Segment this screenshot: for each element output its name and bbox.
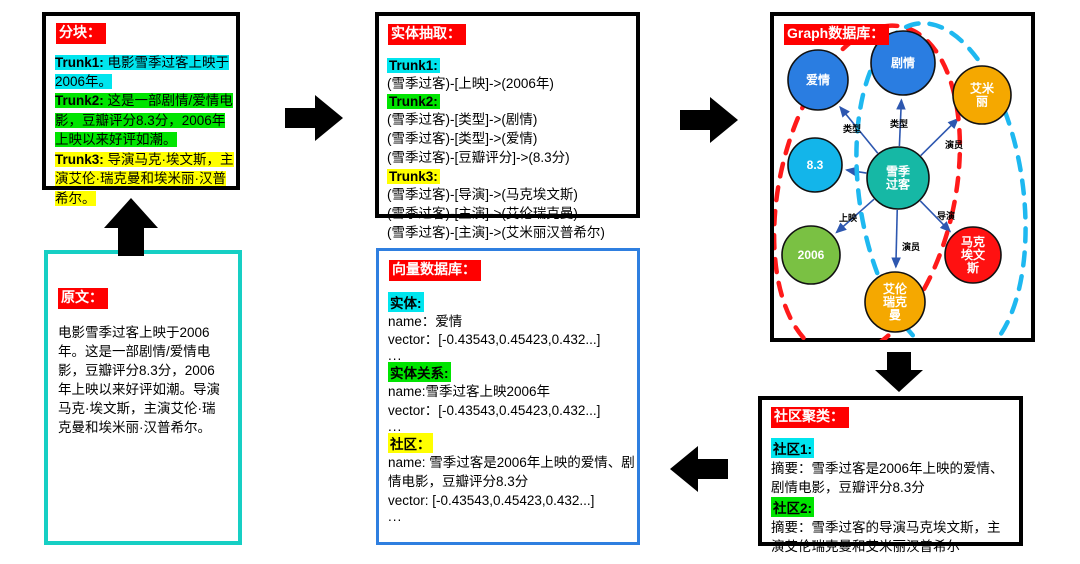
graph-edge (896, 210, 897, 267)
graph-node-label: 剧情 (891, 55, 915, 70)
chunk-label-2: Trunk2: (55, 93, 108, 108)
graph-db-panel: Graph数据库： 爱情剧情艾米丽8.3雪季过客2006马克埃文斯艾伦瑞克曼 类… (770, 12, 1035, 342)
community-summary: 摘要：雪季过客的导演马克埃文斯，主演艾伦瑞克曼和艾米丽汉普希尔 (771, 518, 1011, 556)
entity-triple: (雪季过客)-[上映]->(2006年) (387, 75, 636, 94)
arrow-comm-to-vec (668, 443, 730, 495)
graph-edge-label: 上映 (839, 212, 858, 223)
graph-edge-label: 类型 (843, 123, 861, 134)
graph-db-title: Graph数据库： (784, 24, 889, 45)
vector-section-tag-3: 社区： (388, 433, 433, 453)
vector-db-panel: 向量数据库： 实体: name：爱情 vector：[-0.43543,0.45… (376, 248, 640, 545)
entity-group-tag-2: Trunk2: (387, 94, 440, 109)
entity-group-tag-3: Trunk3: (387, 169, 440, 184)
graph-node-label: 雪季过客 (886, 164, 911, 192)
vector-db-title: 向量数据库： (389, 260, 481, 281)
chunk-list: Trunk1: 电影雪季过客上映于2006年。 Trunk2: 这是一部剧情/爱… (55, 53, 235, 209)
community-tag-2: 社区2: (771, 497, 814, 517)
graph-edge (921, 119, 958, 156)
arrow-chunk-to-ent (283, 92, 345, 144)
vector-line: name: 雪季过客是2006年上映的爱情、剧情电影，豆瓣评分8.3分 (388, 454, 637, 492)
community-summary: 摘要：雪季过客是2006年上映的爱情、剧情电影，豆瓣评分8.3分 (771, 459, 1011, 497)
graph-edge-label: 导演 (937, 210, 955, 221)
graph-node-label: 爱情 (806, 72, 830, 87)
source-text-title: 原文： (58, 288, 108, 309)
graph-node-label: 2006 (798, 248, 825, 262)
chunk-item-1: Trunk1: 电影雪季过客上映于2006年。 (55, 55, 229, 89)
community-list: 社区1: 摘要：雪季过客是2006年上映的爱情、剧情电影，豆瓣评分8.3分 社区… (771, 438, 1019, 557)
community-title: 社区聚类： (771, 407, 849, 428)
graph-edge-label: 演员 (945, 139, 963, 150)
entity-extraction-panel: 实体抽取： Trunk1: (雪季过客)-[上映]->(2006年) Trunk… (375, 12, 640, 218)
community-tag-1: 社区1: (771, 438, 814, 458)
vector-line: vector: [-0.43543,0.45423,0.432...] (388, 492, 637, 511)
entity-triple: (雪季过客)-[主演]->(艾米丽汉普希尔) (387, 224, 636, 243)
entity-group-list: Trunk1: (雪季过客)-[上映]->(2006年) Trunk2: (雪季… (387, 57, 636, 243)
entity-triple: (雪季过客)-[主演]->(艾伦瑞克曼) (387, 205, 636, 224)
vector-line: name:雪季过客上映2006年 (388, 383, 637, 402)
entity-extraction-title: 实体抽取： (388, 24, 466, 45)
entity-triple: (雪季过客)-[豆瓣评分]->(8.3分) (387, 149, 636, 168)
vector-section-tag-1: 实体: (388, 292, 424, 312)
chunk-label-1: Trunk1: (55, 55, 108, 70)
vector-ellipsis: ... (388, 421, 637, 433)
graph-nodes: 爱情剧情艾米丽8.3雪季过客2006马克埃文斯艾伦瑞克曼 (782, 31, 1011, 332)
chunk-label-3: Trunk3: (55, 152, 108, 167)
entity-group-tag-1: Trunk1: (387, 58, 440, 73)
vector-line: vector：[-0.43543,0.45423,0.432...] (388, 331, 637, 350)
vector-section-tag-2: 实体关系: (388, 362, 451, 382)
vector-line: vector：[-0.43543,0.45423,0.432...] (388, 402, 637, 421)
vector-section-list: 实体: name：爱情 vector：[-0.43543,0.45423,0.4… (388, 292, 637, 524)
arrow-graph-to-comm (873, 350, 925, 394)
entity-triple: (雪季过客)-[类型]->(剧情) (387, 111, 636, 130)
graph-edge-label: 类型 (890, 118, 908, 129)
community-panel: 社区聚类： 社区1: 摘要：雪季过客是2006年上映的爱情、剧情电影，豆瓣评分8… (758, 396, 1023, 546)
entity-triple: (雪季过客)-[导演]->(马克埃文斯) (387, 186, 636, 205)
arrow-ent-to-graph (678, 94, 740, 146)
graph-node-label: 8.3 (807, 158, 824, 172)
chunking-title: 分块： (56, 23, 106, 44)
vector-line: name：爱情 (388, 313, 637, 332)
graph-canvas: 爱情剧情艾米丽8.3雪季过客2006马克埃文斯艾伦瑞克曼 类型类型演员上映导演演… (774, 16, 1033, 340)
chunking-panel: 分块： Trunk1: 电影雪季过客上映于2006年。 Trunk2: 这是一部… (42, 12, 240, 190)
vector-ellipsis: ... (388, 350, 637, 362)
chunk-item-2: Trunk2: 这是一部剧情/爱情电影，豆瓣评分8.3分，2006年上映以来好评… (55, 93, 233, 147)
entity-triple: (雪季过客)-[类型]->(爱情) (387, 130, 636, 149)
source-text-body: 电影雪季过客上映于2006年。这是一部剧情/爱情电影，豆瓣评分8.3分，2006… (58, 323, 228, 438)
source-text-panel: 原文： 电影雪季过客上映于2006年。这是一部剧情/爱情电影，豆瓣评分8.3分，… (44, 250, 242, 545)
vector-ellipsis: ... (388, 511, 637, 523)
arrow-src-to-chunk (100, 196, 162, 258)
graph-edge-label: 演员 (902, 241, 920, 252)
